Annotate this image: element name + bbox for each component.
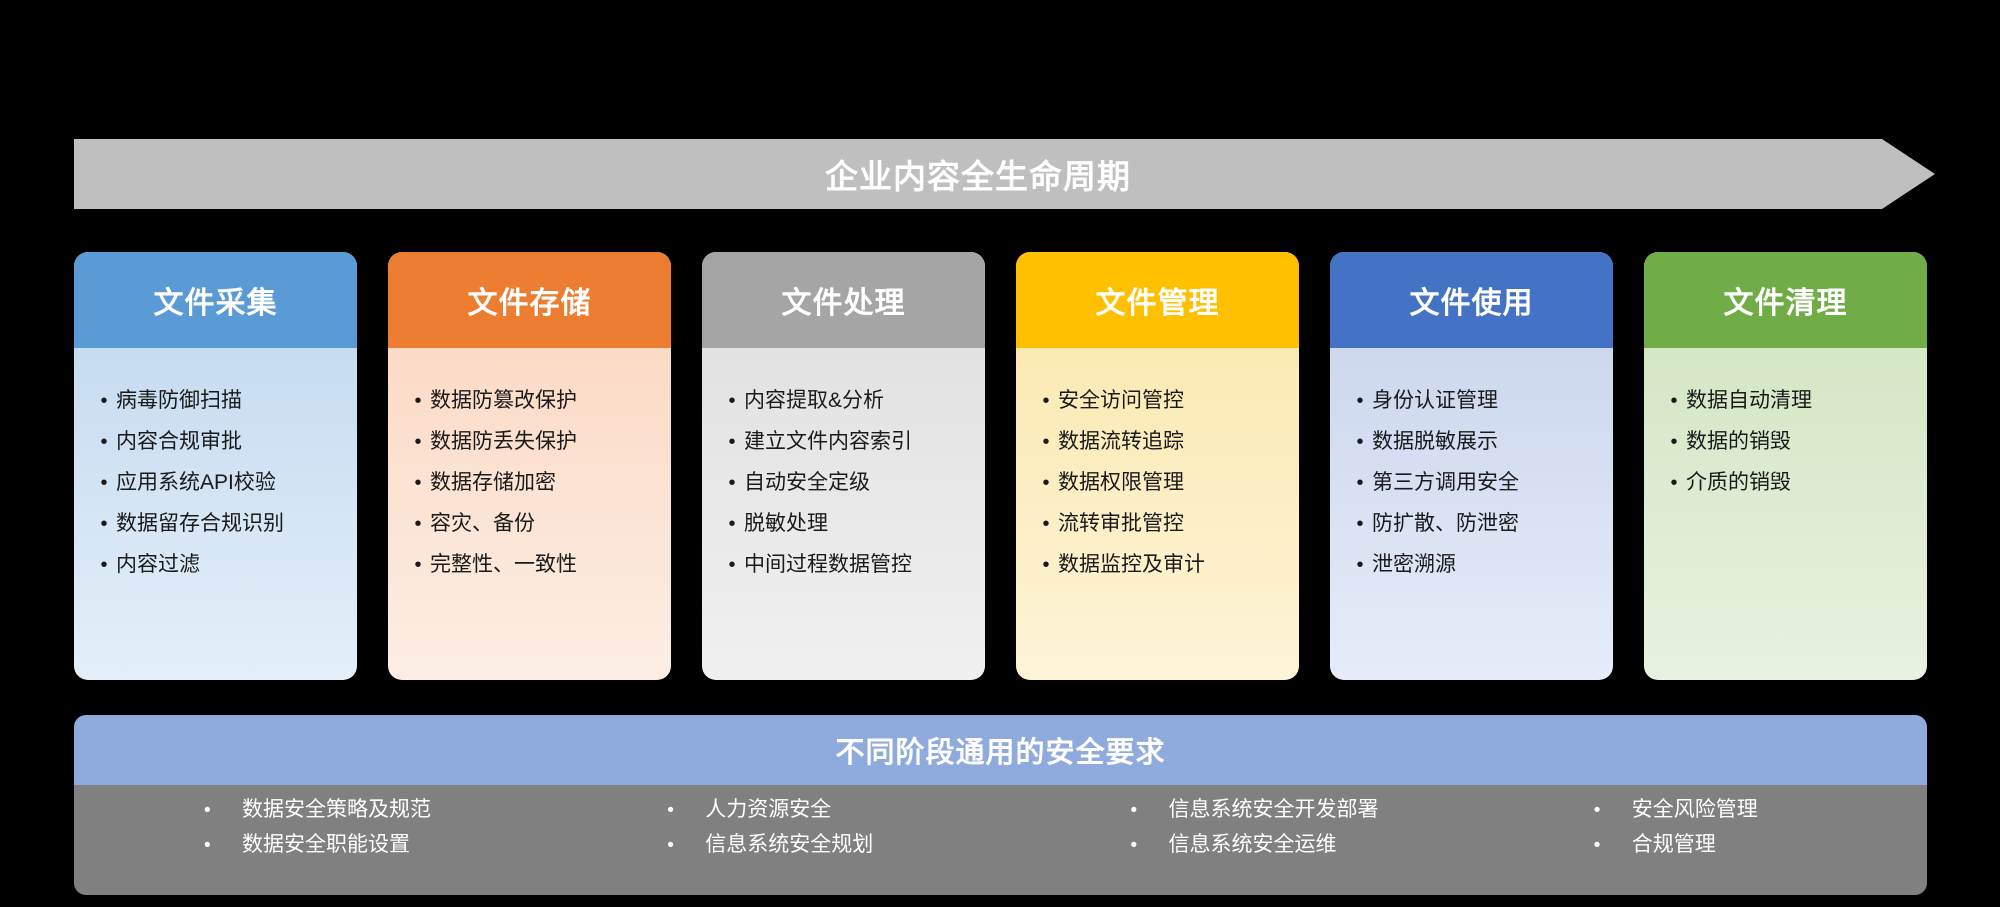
- stage-item: •数据留存合规识别: [74, 513, 357, 534]
- stage-item: •内容合规审批: [74, 431, 357, 452]
- stage-item: •内容过滤: [74, 554, 357, 575]
- stage-item: •数据流转追踪: [1016, 431, 1299, 452]
- stage-card[interactable]: 文件管理•安全访问管控•数据流转追踪•数据权限管理•流转审批管控•数据监控及审计: [1016, 252, 1299, 680]
- stage-item: •内容提取&分析: [702, 390, 985, 411]
- bullet-icon: •: [720, 391, 744, 411]
- stage-header: 文件存储: [388, 252, 671, 348]
- bullet-icon: •: [92, 555, 116, 575]
- bullet-icon: •: [1594, 836, 1632, 855]
- stage-item-label: 应用系统API校验: [116, 472, 349, 493]
- stage-item-label: 介质的销毁: [1686, 472, 1919, 493]
- stage-item-label: 数据脱敏展示: [1372, 431, 1605, 452]
- stage-item: •自动安全定级: [702, 472, 985, 493]
- stage-item-label: 内容提取&分析: [744, 390, 977, 411]
- stage-item-label: 数据的销毁: [1686, 431, 1919, 452]
- stage-card[interactable]: 文件清理•数据自动清理•数据的销毁•介质的销毁: [1644, 252, 1927, 680]
- bullet-icon: •: [667, 801, 705, 820]
- bullet-icon: •: [1348, 391, 1372, 411]
- stage-item: •数据防丢失保护: [388, 431, 671, 452]
- bullet-icon: •: [1034, 473, 1058, 493]
- stage-item-label: 内容过滤: [116, 554, 349, 575]
- stage-item-list: •病毒防御扫描•内容合规审批•应用系统API校验•数据留存合规识别•内容过滤: [74, 348, 357, 680]
- stage-item-label: 内容合规审批: [116, 431, 349, 452]
- stage-item-label: 数据留存合规识别: [116, 513, 349, 534]
- stage-item-label: 数据权限管理: [1058, 472, 1291, 493]
- stage-card[interactable]: 文件采集•病毒防御扫描•内容合规审批•应用系统API校验•数据留存合规识别•内容…: [74, 252, 357, 680]
- stage-item: •泄密溯源: [1330, 554, 1613, 575]
- footer-item: •信息系统安全开发部署: [1131, 799, 1464, 820]
- footer-item-label: 人力资源安全: [705, 799, 1000, 820]
- stage-item-label: 中间过程数据管控: [744, 554, 977, 575]
- stage-item: •流转审批管控: [1016, 513, 1299, 534]
- footer-column: •人力资源安全•信息系统安全规划: [537, 799, 1000, 895]
- stage-card-row: 文件采集•病毒防御扫描•内容合规审批•应用系统API校验•数据留存合规识别•内容…: [74, 252, 1927, 680]
- bullet-icon: •: [667, 836, 705, 855]
- bullet-icon: •: [1348, 473, 1372, 493]
- bullet-icon: •: [406, 555, 430, 575]
- stage-item-label: 脱敏处理: [744, 513, 977, 534]
- bullet-icon: •: [1034, 432, 1058, 452]
- stage-item-label: 泄密溯源: [1372, 554, 1605, 575]
- stage-item: •数据自动清理: [1644, 390, 1927, 411]
- stage-item: •安全访问管控: [1016, 390, 1299, 411]
- stage-item: •介质的销毁: [1644, 472, 1927, 493]
- bullet-icon: •: [1662, 391, 1686, 411]
- stage-item: •数据存储加密: [388, 472, 671, 493]
- stage-card[interactable]: 文件处理•内容提取&分析•建立文件内容索引•自动安全定级•脱敏处理•中间过程数据…: [702, 252, 985, 680]
- stage-title: 文件清理: [1724, 278, 1848, 322]
- stage-card[interactable]: 文件使用•身份认证管理•数据脱敏展示•第三方调用安全•防扩散、防泄密•泄密溯源: [1330, 252, 1613, 680]
- bullet-icon: •: [1034, 514, 1058, 534]
- bullet-icon: •: [1348, 514, 1372, 534]
- stage-title: 文件管理: [1096, 278, 1220, 322]
- bullet-icon: •: [1131, 801, 1169, 820]
- stage-item-list: •身份认证管理•数据脱敏展示•第三方调用安全•防扩散、防泄密•泄密溯源: [1330, 348, 1613, 680]
- stage-title: 文件处理: [782, 278, 906, 322]
- footer-item-label: 数据安全职能设置: [242, 834, 537, 855]
- stage-item-label: 完整性、一致性: [430, 554, 663, 575]
- stage-item-label: 防扩散、防泄密: [1372, 513, 1605, 534]
- footer-item-label: 数据安全策略及规范: [242, 799, 537, 820]
- stage-item-label: 容灾、备份: [430, 513, 663, 534]
- stage-item: •防扩散、防泄密: [1330, 513, 1613, 534]
- stage-item: •数据脱敏展示: [1330, 431, 1613, 452]
- bullet-icon: •: [92, 391, 116, 411]
- stage-item-label: 流转审批管控: [1058, 513, 1291, 534]
- stage-item-label: 数据存储加密: [430, 472, 663, 493]
- stage-header: 文件管理: [1016, 252, 1299, 348]
- stage-title: 文件使用: [1410, 278, 1534, 322]
- stage-item: •建立文件内容索引: [702, 431, 985, 452]
- bullet-icon: •: [204, 836, 242, 855]
- stage-header: 文件处理: [702, 252, 985, 348]
- bullet-icon: •: [1131, 836, 1169, 855]
- bullet-icon: •: [406, 473, 430, 493]
- bullet-icon: •: [406, 432, 430, 452]
- bullet-icon: •: [1034, 555, 1058, 575]
- lifecycle-title-banner: 企业内容全生命周期: [74, 139, 1935, 209]
- footer-item-label: 信息系统安全规划: [705, 834, 1000, 855]
- bullet-icon: •: [406, 391, 430, 411]
- footer-item: •合规管理: [1594, 834, 1927, 855]
- stage-item: •病毒防御扫描: [74, 390, 357, 411]
- bullet-icon: •: [720, 473, 744, 493]
- footer-column: •数据安全策略及规范•数据安全职能设置: [74, 799, 537, 895]
- stage-item: •完整性、一致性: [388, 554, 671, 575]
- stage-item-label: 数据防丢失保护: [430, 431, 663, 452]
- stage-header: 文件清理: [1644, 252, 1927, 348]
- stage-header: 文件使用: [1330, 252, 1613, 348]
- footer-item-label: 安全风险管理: [1632, 799, 1927, 820]
- bullet-icon: •: [1662, 473, 1686, 493]
- stage-item-label: 数据自动清理: [1686, 390, 1919, 411]
- footer-item: •信息系统安全规划: [667, 834, 1000, 855]
- stage-header: 文件采集: [74, 252, 357, 348]
- bullet-icon: •: [1594, 801, 1632, 820]
- bullet-icon: •: [1348, 555, 1372, 575]
- bullet-icon: •: [720, 514, 744, 534]
- stage-item: •数据权限管理: [1016, 472, 1299, 493]
- stage-item: •容灾、备份: [388, 513, 671, 534]
- stage-item-label: 自动安全定级: [744, 472, 977, 493]
- lifecycle-title-label: 企业内容全生命周期: [74, 139, 1882, 209]
- stage-item-label: 身份认证管理: [1372, 390, 1605, 411]
- footer-item-label: 合规管理: [1632, 834, 1927, 855]
- stage-card[interactable]: 文件存储•数据防篡改保护•数据防丢失保护•数据存储加密•容灾、备份•完整性、一致…: [388, 252, 671, 680]
- bullet-icon: •: [720, 555, 744, 575]
- footer-item: •数据安全职能设置: [204, 834, 537, 855]
- stage-title: 文件存储: [468, 278, 592, 322]
- stage-title: 文件采集: [154, 278, 278, 322]
- stage-item: •数据防篡改保护: [388, 390, 671, 411]
- bullet-icon: •: [92, 514, 116, 534]
- stage-item-list: •数据自动清理•数据的销毁•介质的销毁: [1644, 348, 1927, 680]
- stage-item: •中间过程数据管控: [702, 554, 985, 575]
- bullet-icon: •: [406, 514, 430, 534]
- stage-item: •脱敏处理: [702, 513, 985, 534]
- stage-item-label: 数据流转追踪: [1058, 431, 1291, 452]
- bullet-icon: •: [1348, 432, 1372, 452]
- stage-item: •应用系统API校验: [74, 472, 357, 493]
- footer-item: •数据安全策略及规范: [204, 799, 537, 820]
- bullet-icon: •: [92, 473, 116, 493]
- stage-item-label: 安全访问管控: [1058, 390, 1291, 411]
- stage-item: •身份认证管理: [1330, 390, 1613, 411]
- footer-column: •安全风险管理•合规管理: [1464, 799, 1927, 895]
- stage-item-list: •安全访问管控•数据流转追踪•数据权限管理•流转审批管控•数据监控及审计: [1016, 348, 1299, 680]
- bullet-icon: •: [204, 801, 242, 820]
- stage-item: •第三方调用安全: [1330, 472, 1613, 493]
- stage-item: •数据的销毁: [1644, 431, 1927, 452]
- stage-item-label: 数据监控及审计: [1058, 554, 1291, 575]
- stage-item-label: 第三方调用安全: [1372, 472, 1605, 493]
- footer-item: •人力资源安全: [667, 799, 1000, 820]
- bullet-icon: •: [92, 432, 116, 452]
- stage-item-label: 数据防篡改保护: [430, 390, 663, 411]
- footer-column: •信息系统安全开发部署•信息系统安全运维: [1001, 799, 1464, 895]
- bullet-icon: •: [1034, 391, 1058, 411]
- footer-item-label: 信息系统安全运维: [1169, 834, 1464, 855]
- footer-item: •信息系统安全运维: [1131, 834, 1464, 855]
- stage-item-list: •数据防篡改保护•数据防丢失保护•数据存储加密•容灾、备份•完整性、一致性: [388, 348, 671, 680]
- bullet-icon: •: [1662, 432, 1686, 452]
- stage-item-label: 建立文件内容索引: [744, 431, 977, 452]
- common-requirements-footer: •数据安全策略及规范•数据安全职能设置•人力资源安全•信息系统安全规划•信息系统…: [74, 785, 1927, 895]
- common-requirements-banner: 不同阶段通用的安全要求: [74, 715, 1927, 785]
- stage-item: •数据监控及审计: [1016, 554, 1299, 575]
- footer-item: •安全风险管理: [1594, 799, 1927, 820]
- stage-item-list: •内容提取&分析•建立文件内容索引•自动安全定级•脱敏处理•中间过程数据管控: [702, 348, 985, 680]
- bullet-icon: •: [720, 432, 744, 452]
- footer-item-label: 信息系统安全开发部署: [1169, 799, 1464, 820]
- stage-item-label: 病毒防御扫描: [116, 390, 349, 411]
